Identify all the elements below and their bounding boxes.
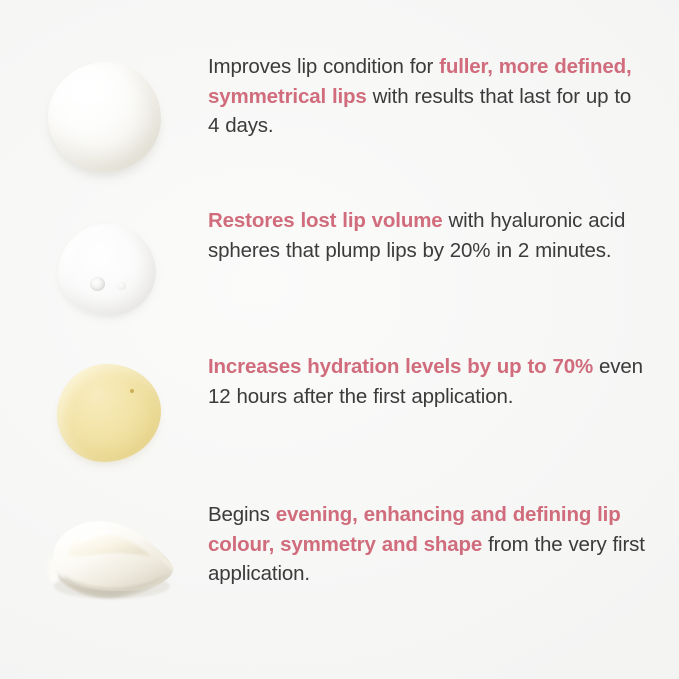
swatch-cell (0, 206, 208, 338)
plain-phrase: Improves lip condition for (208, 55, 439, 78)
pearl-sphere-swatch-icon (48, 62, 161, 172)
highlighted-phrase: Increases hydration levels by up to 70% (208, 355, 593, 378)
clear-gel-droplet-swatch-icon (58, 224, 156, 316)
benefits-infographic: Improves lip condition for fuller, more … (0, 0, 679, 679)
highlighted-phrase: Restores lost lip volume (208, 209, 443, 232)
benefit-text-cell: Increases hydration levels by up to 70% … (208, 352, 679, 411)
benefit-text-cell: Improves lip condition for fuller, more … (208, 52, 679, 141)
cream-balm-swipe-swatch-icon (44, 510, 178, 606)
plain-phrase: Begins (208, 503, 276, 526)
benefit-row: Begins evening, enhancing and defining l… (0, 500, 679, 630)
swatch-cell (0, 52, 208, 192)
benefit-row: Improves lip condition for fuller, more … (0, 52, 679, 192)
benefit-row: Restores lost lip volume with hyaluronic… (0, 206, 679, 338)
benefit-text: Increases hydration levels by up to 70% … (208, 352, 645, 411)
swatch-cell (0, 500, 208, 630)
benefit-text: Begins evening, enhancing and defining l… (208, 500, 645, 589)
benefit-text-cell: Begins evening, enhancing and defining l… (208, 500, 679, 589)
benefit-text-cell: Restores lost lip volume with hyaluronic… (208, 206, 679, 265)
benefit-text: Restores lost lip volume with hyaluronic… (208, 206, 645, 265)
benefit-row: Increases hydration levels by up to 70% … (0, 352, 679, 484)
swatch-cell (0, 352, 208, 484)
benefit-text: Improves lip condition for fuller, more … (208, 52, 645, 141)
yellow-oil-droplet-swatch-icon (57, 364, 161, 462)
